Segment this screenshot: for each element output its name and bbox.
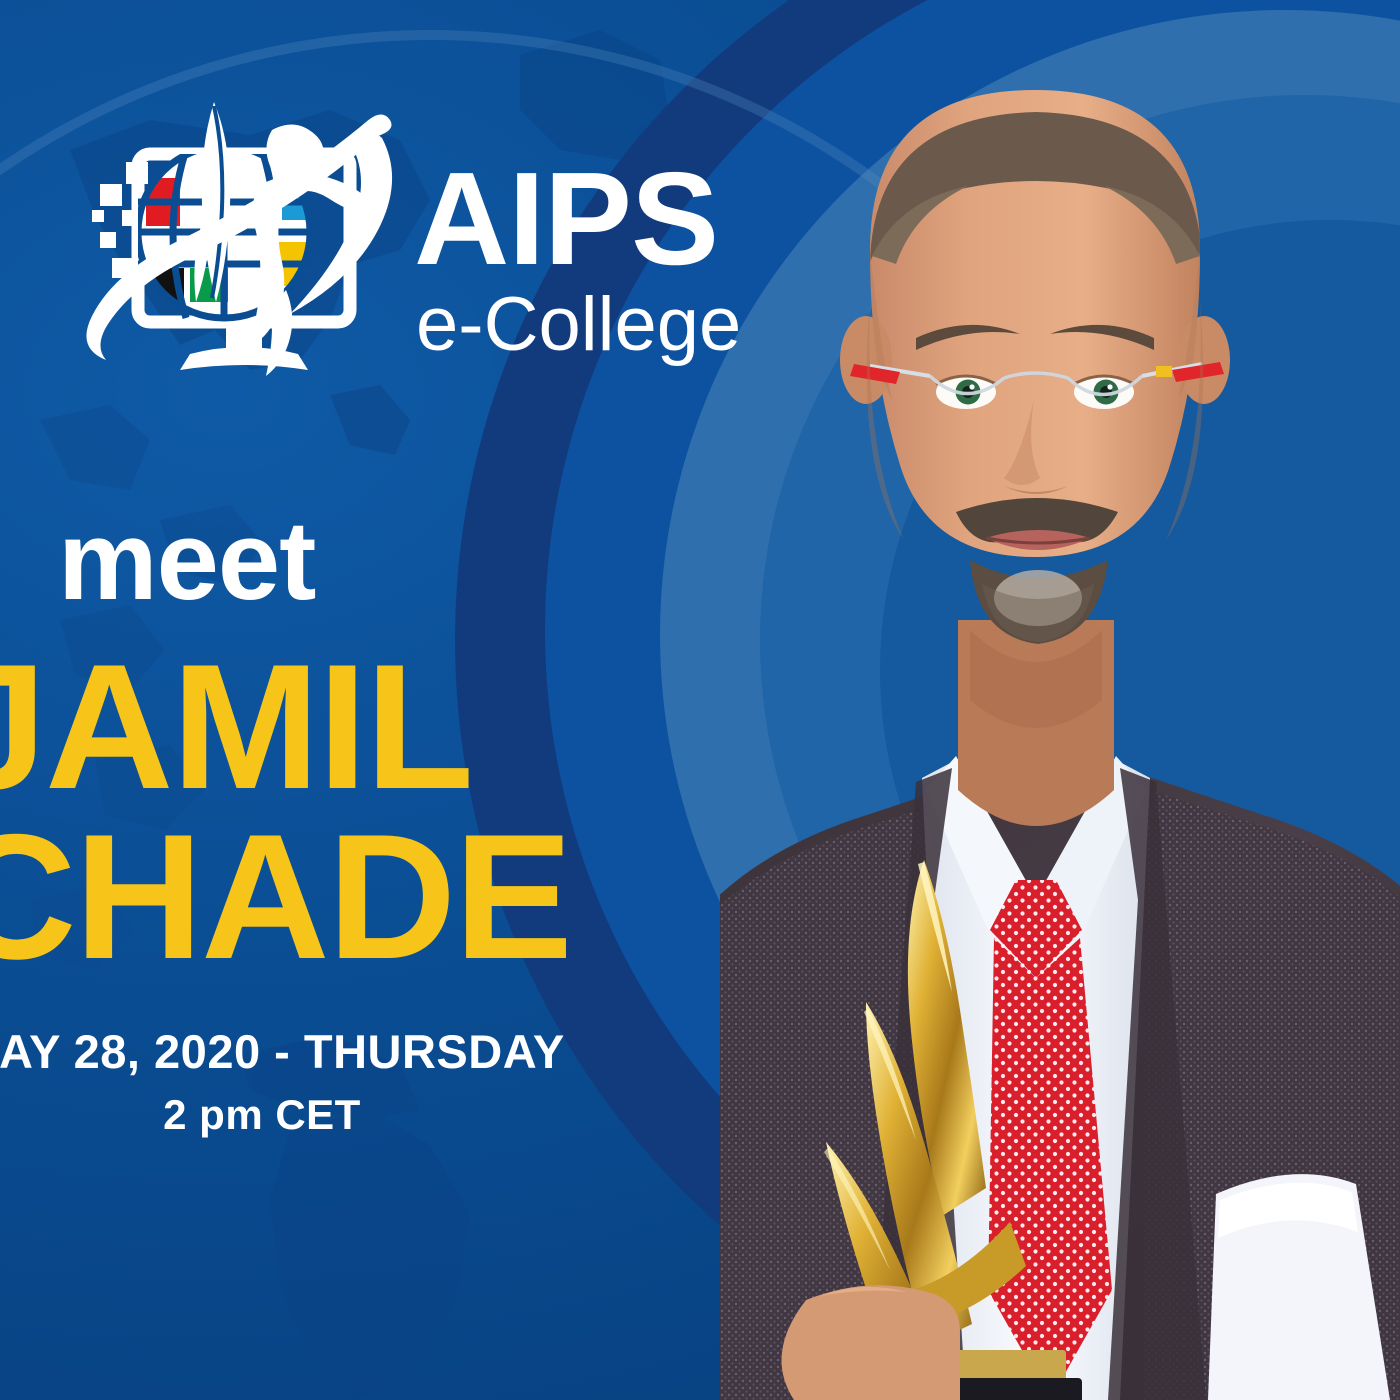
logo-wordmark: AIPS [414, 145, 718, 292]
promo-poster: AIPS e-College meet JAMIL CHADE MAY 28, … [0, 0, 1400, 1400]
event-time: 2 pm CET [0, 1089, 582, 1142]
schedule-block: MAY 28, 2020 - THURSDAY 2 pm CET [0, 1025, 582, 1142]
event-date: MAY 28, 2020 - THURSDAY [0, 1025, 582, 1079]
aips-ecollege-logo: AIPS e-College [86, 92, 786, 372]
logo-sub-wordmark: e-College [416, 282, 741, 367]
headline-kicker: meet [58, 505, 315, 617]
speaker-name-line-2: CHADE [0, 820, 571, 973]
speaker-name-line-1: JAMIL [0, 650, 472, 803]
speaker-portrait [720, 0, 1400, 1400]
